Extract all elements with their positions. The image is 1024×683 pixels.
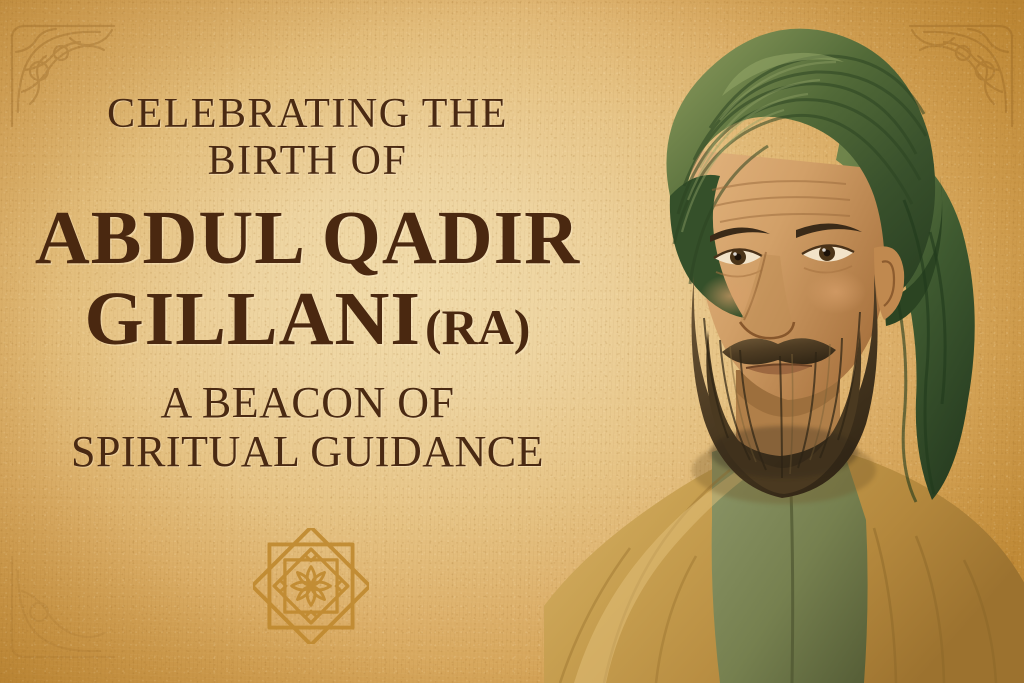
subtitle-line-1: A BEACON OF [0,380,615,427]
subtitle-line-2: SPIRITUAL GUIDANCE [0,429,615,476]
eight-point-star-ornament-icon [253,528,369,644]
poster-canvas: CELEBRATING THE BIRTH OF ABDUL QADIR GIL… [0,0,1024,683]
eyebrow-line-2: BIRTH OF [0,139,615,184]
headline-line-1: ABDUL QADIR [0,201,615,275]
honorific-label: (RA) [425,299,531,355]
poster-text-block: CELEBRATING THE BIRTH OF ABDUL QADIR GIL… [0,92,615,475]
scholar-portrait-icon [544,0,1024,683]
headline-line-2-row: GILLANI(RA) [0,282,615,356]
headline-line-2: GILLANI [85,277,421,361]
corner-flourish-icon-bottom-left [8,555,128,675]
eyebrow-line-1: CELEBRATING THE [0,92,615,137]
